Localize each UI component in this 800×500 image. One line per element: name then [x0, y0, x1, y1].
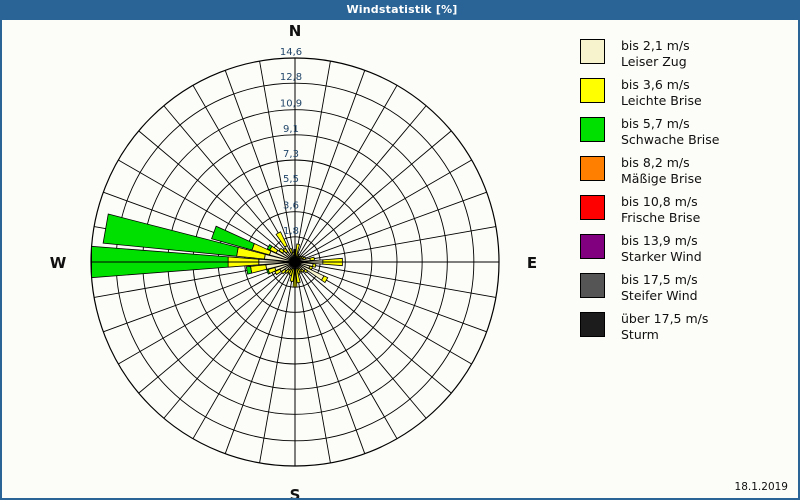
- radial-tick-labels: 1,83,65,57,39,110,912,814,6: [280, 47, 302, 237]
- petal-segment: [251, 265, 267, 273]
- radial-tick-label: 12,8: [280, 72, 302, 83]
- radial-tick-label: 1,8: [283, 226, 299, 237]
- windrose-window: Windstatistik [%] 1,83,65,57,39,110,912,…: [0, 0, 800, 500]
- legend-item[interactable]: bis 17,5 m/s Steifer Wind: [580, 272, 795, 304]
- radial-tick-label: 5,5: [283, 174, 299, 185]
- legend-swatch-icon: [580, 234, 605, 259]
- legend-name: Sturm: [621, 327, 708, 343]
- radial-tick-label: 7,3: [283, 149, 299, 160]
- legend-name: Steifer Wind: [621, 288, 698, 304]
- radial-tick-label: 9,1: [283, 124, 299, 135]
- legend-name: Frische Brise: [621, 210, 700, 226]
- legend-name: Starker Wind: [621, 249, 702, 265]
- legend-item[interactable]: über 17,5 m/s Sturm: [580, 311, 795, 343]
- legend-label: bis 10,8 m/s Frische Brise: [621, 194, 700, 226]
- legend-speed: bis 10,8 m/s: [621, 194, 700, 210]
- windrose-plot: 1,83,65,57,39,110,912,814,6 NSEW: [2, 20, 562, 498]
- legend-name: Mäßige Brise: [621, 171, 702, 187]
- footer-date: 18.1.2019: [735, 481, 788, 493]
- legend-swatch-icon: [580, 195, 605, 220]
- legend-swatch-icon: [580, 78, 605, 103]
- legend-name: Leiser Zug: [621, 54, 690, 70]
- radial-tick-label: 10,9: [280, 99, 302, 110]
- legend-swatch-icon: [580, 156, 605, 181]
- legend-name: Schwache Brise: [621, 132, 719, 148]
- legend-label: bis 8,2 m/s Mäßige Brise: [621, 155, 702, 187]
- legend-item[interactable]: bis 5,7 m/s Schwache Brise: [580, 116, 795, 148]
- windrose-svg: 1,83,65,57,39,110,912,814,6 NSEW: [2, 20, 562, 498]
- legend-speed: über 17,5 m/s: [621, 311, 708, 327]
- legend-item[interactable]: bis 13,9 m/s Starker Wind: [580, 233, 795, 265]
- legend-swatch-icon: [580, 273, 605, 298]
- legend-item[interactable]: bis 10,8 m/s Frische Brise: [580, 194, 795, 226]
- legend-item[interactable]: bis 3,6 m/s Leichte Brise: [580, 77, 795, 109]
- legend-item[interactable]: bis 8,2 m/s Mäßige Brise: [580, 155, 795, 187]
- legend-speed: bis 2,1 m/s: [621, 38, 690, 54]
- compass-label-east: E: [527, 254, 537, 272]
- petal-segment: [293, 252, 295, 255]
- legend-label: bis 2,1 m/s Leiser Zug: [621, 38, 690, 70]
- window-title-bar: Windstatistik [%]: [2, 0, 800, 20]
- compass-label-south: S: [290, 486, 301, 498]
- petal-segment: [313, 264, 316, 267]
- legend-speed: bis 8,2 m/s: [621, 155, 702, 171]
- legend-speed: bis 3,6 m/s: [621, 77, 702, 93]
- legend-label: bis 13,9 m/s Starker Wind: [621, 233, 702, 265]
- legend-label: bis 5,7 m/s Schwache Brise: [621, 116, 719, 148]
- legend-label: über 17,5 m/s Sturm: [621, 311, 708, 343]
- petal-segment: [246, 266, 251, 274]
- compass-label-north: N: [289, 22, 302, 40]
- footer-divider: [2, 475, 798, 476]
- radial-tick-label: 14,6: [280, 47, 302, 58]
- legend-name: Leichte Brise: [621, 93, 702, 109]
- legend-speed: bis 5,7 m/s: [621, 116, 719, 132]
- legend-swatch-icon: [580, 312, 605, 337]
- legend-speed: bis 13,9 m/s: [621, 233, 702, 249]
- legend-label: bis 17,5 m/s Steifer Wind: [621, 272, 698, 304]
- legend-speed: bis 17,5 m/s: [621, 272, 698, 288]
- legend-swatch-icon: [580, 39, 605, 64]
- polar-axes: [91, 58, 499, 466]
- legend-item[interactable]: bis 2,1 m/s Leiser Zug: [580, 38, 795, 70]
- legend: bis 2,1 m/s Leiser Zug bis 3,6 m/s Leich…: [580, 38, 795, 350]
- legend-swatch-icon: [580, 117, 605, 142]
- petal-segment: [310, 257, 315, 260]
- compass-label-west: W: [50, 254, 67, 272]
- radial-tick-label: 3,6: [283, 201, 299, 212]
- legend-label: bis 3,6 m/s Leichte Brise: [621, 77, 702, 109]
